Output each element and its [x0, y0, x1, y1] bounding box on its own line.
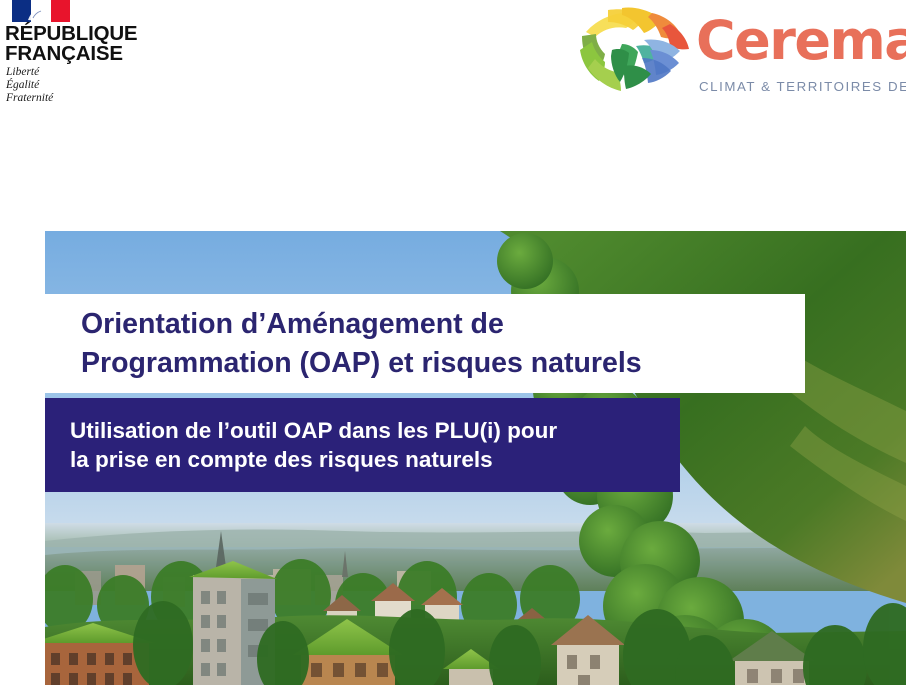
- cerema-wordmark: Cerema: [696, 14, 906, 68]
- slide-title-card: Orientation d’Aménagement de Programmati…: [45, 294, 805, 393]
- slide-title: Orientation d’Aménagement de Programmati…: [45, 305, 652, 383]
- devise-label: Liberté Égalité Fraternité: [6, 66, 53, 104]
- slide-subtitle: Utilisation de l’outil OAP dans les PLU(…: [45, 416, 567, 474]
- cerema-hexagon-ribbon-icon: [578, 6, 702, 96]
- page-header: RÉPUBLIQUE FRANÇAISE Liberté Égalité Fra…: [0, 0, 906, 115]
- cerema-logo: Cerema CLIMAT & TERRITOIRES DE DEMAIN: [578, 6, 903, 98]
- republique-francaise-label: RÉPUBLIQUE FRANÇAISE: [5, 24, 137, 64]
- cerema-tagline: CLIMAT & TERRITOIRES DE DEMAIN: [699, 79, 906, 94]
- slide-subtitle-band: Utilisation de l’outil OAP dans les PLU(…: [45, 398, 680, 492]
- marianne-profile-icon: [25, 1, 55, 23]
